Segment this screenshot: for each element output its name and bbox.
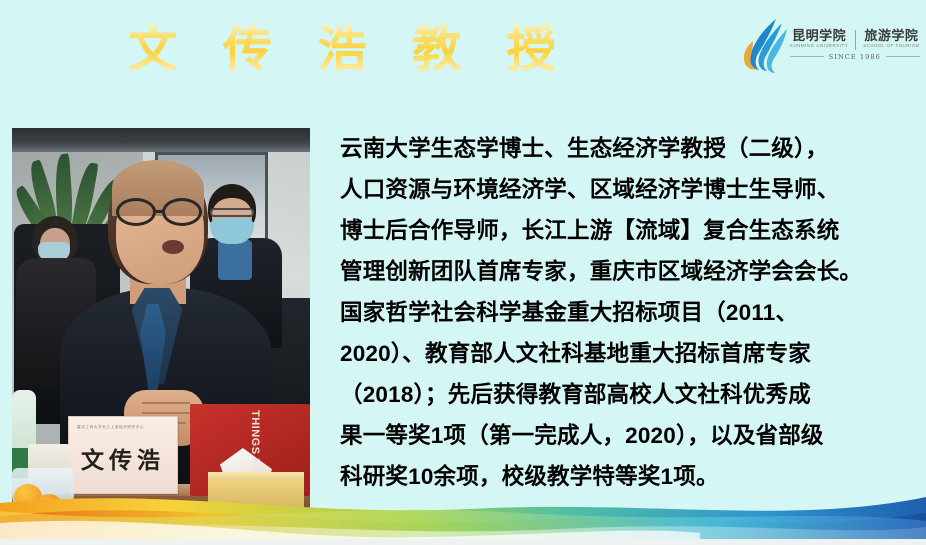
photo-ceiling <box>12 128 310 152</box>
photo-name-placard-name: 文传浩 <box>69 441 177 475</box>
photo-name-placard: 重庆工商大学长江上游经济研究中心 文传浩 <box>68 416 178 494</box>
bottom-rainbow-wave <box>0 487 926 545</box>
bio-line: 云南大学生态学博士、生态经济学教授（二级）， <box>340 128 918 169</box>
logo-school-en: SCHOOL OF TOURISM <box>863 43 919 50</box>
photo-speaker-finger-line <box>142 402 190 404</box>
logo-since-text: SINCE 1986 <box>829 53 881 61</box>
logo-university-cn: 昆明学院 <box>792 30 846 44</box>
kunming-university-flame-icon <box>742 17 788 73</box>
logo-text-block: 昆明学院 KUNMING UNIVERSITY 旅游学院 SCHOOL OF T… <box>788 30 920 61</box>
photo-speaker-finger-line <box>142 412 190 414</box>
photo-person-right-shirt <box>218 240 252 280</box>
photo-speaker-glasses-bridge <box>155 210 164 213</box>
logo-since-row: SINCE 1986 <box>790 53 920 61</box>
photo-speaker-glasses-right <box>162 198 202 226</box>
photo-speaker-glasses-left <box>116 198 156 226</box>
slide-canvas: 文 传 浩 教 授 昆明学院 KUNMING UNIVERSITY 旅游学院 S… <box>0 0 926 545</box>
logo-university-en: KUNMING UNIVERSITY <box>790 43 848 50</box>
logo-rule-right <box>886 56 920 57</box>
logo-rule-left <box>790 56 824 57</box>
bio-line: 2020）、教育部人文社科基地重大招标首席专家 <box>340 333 918 374</box>
bio-line: 人口资源与环境经济学、区域经济学博士生导师、 <box>340 169 918 210</box>
institution-logo: 昆明学院 KUNMING UNIVERSITY 旅游学院 SCHOOL OF T… <box>742 14 918 76</box>
photo-name-placard-subtitle: 重庆工商大学长江上游经济研究中心 <box>77 425 144 430</box>
photo-person-right-glasses <box>210 208 254 217</box>
biography-text: 云南大学生态学博士、生态经济学教授（二级）， 人口资源与环境经济学、区域经济学博… <box>340 128 918 497</box>
page-title: 文 传 浩 教 授 <box>0 22 700 78</box>
bottom-edge-strip <box>0 539 926 545</box>
bio-line: 博士后合作导师，长江上游【流域】复合生态系统 <box>340 210 918 251</box>
bio-line: 果一等奖1项（第一完成人，2020），以及省部级 <box>340 415 918 456</box>
speaker-photo: THINGS HAPPEN 重庆工商大学长江上游经济研究中心 文传浩 <box>12 128 310 520</box>
photo-tissue-box-text: THINGS HAPPEN <box>194 410 260 462</box>
bio-line: （2018）；先后获得教育部高校人文社科优秀成 <box>340 374 918 415</box>
photo-speaker-mouth <box>162 240 184 254</box>
logo-divider <box>855 30 856 50</box>
bio-line: 国家哲学社会科学基金重大招标项目（2011、 <box>340 292 918 333</box>
logo-school-cn: 旅游学院 <box>864 30 918 44</box>
bio-line: 管理创新团队首席专家，重庆市区域经济学会会长。 <box>340 251 918 292</box>
